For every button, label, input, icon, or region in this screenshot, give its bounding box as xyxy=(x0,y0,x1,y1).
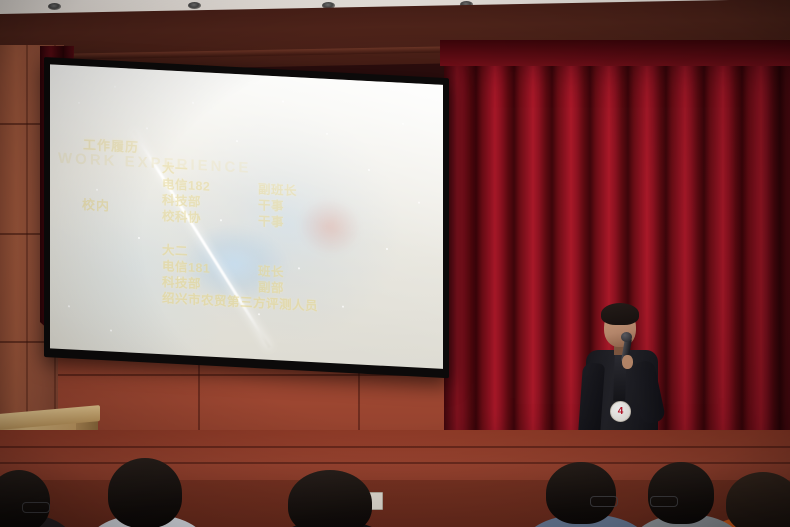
projection-screen: 工作履历 WORK EXPERIENCE 校内 大一 电信182 科技部 校科协… xyxy=(44,57,449,378)
slide-block-2-left-col: 电信181 科技部 xyxy=(162,258,210,293)
slide-block-2-year: 大二 xyxy=(162,242,188,259)
slide-item: 校科协 xyxy=(162,208,210,227)
slide-block-2-note: 绍兴市农贸第三方评测人员 xyxy=(162,290,318,314)
curtain-valance xyxy=(440,40,790,66)
slide-item: 干事 xyxy=(258,213,297,231)
slide-subtitle: WORK EXPERIENCE xyxy=(58,150,251,177)
projection-screen-surface: 工作履历 WORK EXPERIENCE 校内 大一 电信182 科技部 校科协… xyxy=(50,64,443,369)
microphone-head-icon xyxy=(621,332,632,342)
slide-block-1-left-col: 电信182 科技部 校科协 xyxy=(162,176,210,227)
speaker-hair xyxy=(601,303,639,325)
ceiling-spotlight-icon xyxy=(188,2,201,9)
speaker-hand-holding-mic xyxy=(622,355,633,369)
slide-text-layer: 工作履历 WORK EXPERIENCE 校内 大一 电信182 科技部 校科协… xyxy=(50,64,443,369)
auditorium-photo: 工作履历 WORK EXPERIENCE 校内 大一 电信182 科技部 校科协… xyxy=(0,0,790,527)
contestant-number-badge: 4 xyxy=(610,401,631,422)
slide-block-2-right-col: 班长 副部 xyxy=(258,263,284,296)
slide-side-label: 校内 xyxy=(82,194,110,214)
ceiling-spotlight-icon xyxy=(48,3,61,10)
slide-block-1-year: 大一 xyxy=(162,160,188,177)
slide-item: 副部 xyxy=(258,279,284,296)
slide-block-1-right-col: 副班长 干事 干事 xyxy=(258,181,297,231)
slide-item: 班长 xyxy=(258,263,284,280)
